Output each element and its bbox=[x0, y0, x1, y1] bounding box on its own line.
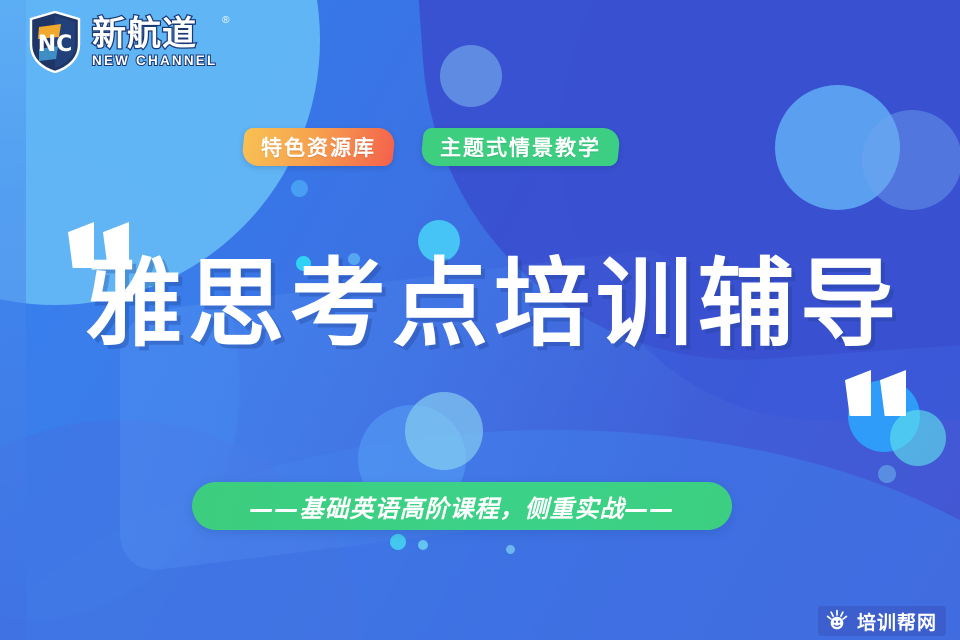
background-left-stripe bbox=[0, 0, 26, 640]
feature-badge-label: 特色资源库 bbox=[261, 132, 376, 162]
brand-wordmark: 新航道 ® NEW CHANNEL bbox=[92, 17, 217, 68]
watermark-text: 培训帮网 bbox=[857, 608, 937, 635]
decorative-circle bbox=[862, 110, 960, 210]
subtitle-ribbon: ——基础英语高阶课程，侧重实战—— bbox=[192, 482, 732, 530]
decorative-circle bbox=[890, 410, 946, 466]
decorative-dot bbox=[291, 180, 308, 197]
page-title: 雅思考点培训辅导 bbox=[86, 256, 902, 352]
brand-name-en: NEW CHANNEL bbox=[92, 53, 217, 68]
brand-name-cn: 新航道 bbox=[92, 17, 217, 51]
decorative-dot bbox=[418, 540, 428, 550]
subtitle-text: ——基础英语高阶课程，侧重实战—— bbox=[250, 489, 675, 524]
decorative-dot bbox=[506, 545, 515, 554]
feature-badge-group: 特色资源库 主题式情景教学 bbox=[243, 128, 619, 166]
decorative-circle bbox=[405, 392, 483, 470]
decorative-dot bbox=[390, 534, 406, 550]
site-watermark: 培训帮网 bbox=[818, 606, 946, 636]
svg-text:NC: NC bbox=[38, 32, 73, 57]
decorative-circle bbox=[440, 45, 502, 107]
shield-icon: NC bbox=[28, 11, 82, 73]
registered-mark: ® bbox=[222, 15, 229, 26]
feature-badge-label: 主题式情景教学 bbox=[440, 132, 601, 162]
feature-badge-resource-library[interactable]: 特色资源库 bbox=[241, 128, 396, 166]
brand-logo[interactable]: NC 新航道 ® NEW CHANNEL bbox=[28, 11, 217, 73]
sun-face-icon bbox=[825, 609, 849, 633]
quote-close-icon bbox=[845, 370, 906, 416]
promo-banner: NC 新航道 ® NEW CHANNEL 特色资源库 主题式情景教学 雅思考点培… bbox=[0, 0, 960, 640]
feature-badge-scenario-teaching[interactable]: 主题式情景教学 bbox=[420, 128, 621, 166]
decorative-dot bbox=[878, 465, 896, 483]
